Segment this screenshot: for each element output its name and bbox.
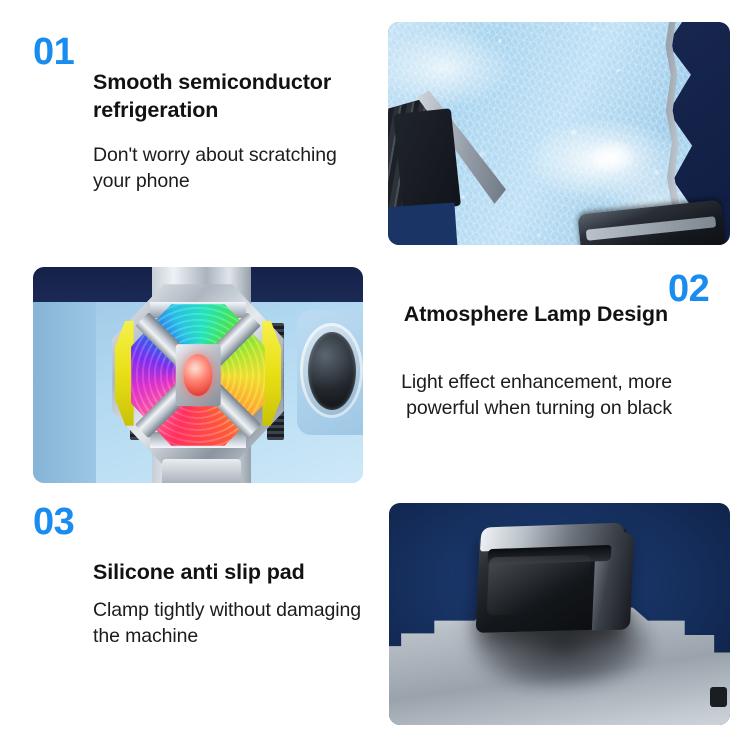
- cooler-body-base: [162, 459, 241, 483]
- ice-specular-highlight: [591, 138, 638, 173]
- product-feature-infographic: 01 Smooth semiconductor refrigeration Do…: [0, 0, 750, 750]
- ice-dark-side-panel: [393, 108, 461, 212]
- clamp-plate-notch: [710, 687, 727, 707]
- feature-number-01: 01: [33, 33, 74, 71]
- feature-body-01: Don't worry about scratching your phone: [93, 142, 373, 195]
- ice-navy-corner: [388, 202, 458, 245]
- lamp-camera-lens: [308, 332, 356, 410]
- feature-heading-02: Atmosphere Lamp Design: [400, 300, 668, 328]
- feature-heading-01: Smooth semiconductor refrigeration: [93, 68, 393, 125]
- feature-heading-03: Silicone anti slip pad: [93, 558, 383, 586]
- octagon-hub-led: [183, 354, 212, 396]
- feature-image-ice-cooling-plate: [388, 22, 730, 245]
- feature-image-rgb-atmosphere-lamp: [33, 267, 363, 483]
- feature-body-02: Light effect enhancement, more powerful …: [380, 369, 672, 422]
- lamp-phone-edge: [33, 302, 96, 483]
- octagon-lamp-assembly: [112, 284, 284, 465]
- feature-number-03: 03: [33, 503, 74, 541]
- silicone-pad-highlight: [487, 555, 592, 615]
- feature-body-03: Clamp tightly without damaging the machi…: [93, 597, 373, 650]
- feature-image-silicone-clamp-pad: [389, 503, 730, 725]
- feature-number-02: 02: [668, 270, 709, 308]
